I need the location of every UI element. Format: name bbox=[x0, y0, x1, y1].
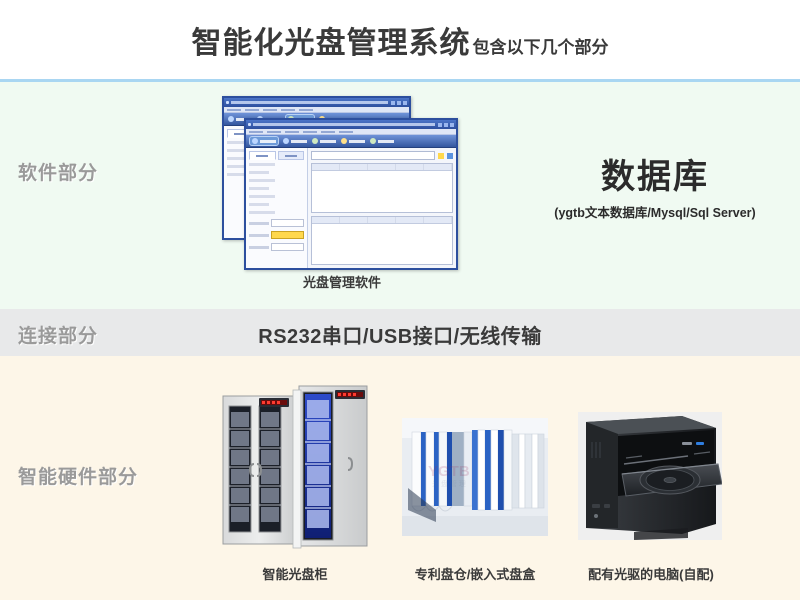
refresh-icon[interactable] bbox=[447, 153, 453, 159]
toolbar-button[interactable] bbox=[341, 138, 365, 144]
connection-methods-text: RS232串口/USB接口/无线传输 bbox=[0, 320, 800, 349]
header-title-group: 智能化光盘管理系统 包含以下几个部分 bbox=[192, 18, 609, 62]
page-subtitle: 包含以下几个部分 bbox=[473, 33, 609, 58]
menu-item[interactable] bbox=[321, 131, 335, 133]
toolbar-front bbox=[246, 135, 456, 148]
menu-item[interactable] bbox=[339, 131, 353, 133]
infographic-page: 智能化光盘管理系统 包含以下几个部分 软件部分 bbox=[0, 0, 800, 600]
grid-column bbox=[312, 217, 340, 223]
menu-item[interactable] bbox=[303, 131, 317, 133]
menu-item[interactable] bbox=[285, 131, 299, 133]
disc-in-icon bbox=[252, 138, 258, 144]
form-input-row-highlight bbox=[249, 231, 304, 239]
grid-column bbox=[368, 164, 396, 170]
section-label-software: 软件部分 bbox=[18, 158, 98, 185]
database-subtitle: (ygtb文本数据库/Mysql/Sql Server) bbox=[520, 202, 790, 221]
maximize-icon[interactable] bbox=[444, 123, 448, 127]
grid-column bbox=[340, 217, 368, 223]
svg-text:光 盘 管 理: 光 盘 管 理 bbox=[432, 479, 466, 488]
software-screenshot-group bbox=[222, 96, 454, 266]
minimize-icon[interactable] bbox=[438, 123, 442, 127]
tab-disc-borrow[interactable] bbox=[278, 151, 305, 160]
disc-cabinet-image bbox=[215, 378, 375, 556]
caption-disc-cabinet: 智能光盘柜 bbox=[205, 564, 385, 583]
svg-text:YGTB: YGTB bbox=[428, 463, 470, 480]
form-field bbox=[249, 195, 275, 198]
window-controls bbox=[438, 123, 454, 127]
sync-icon bbox=[370, 138, 376, 144]
toolbar-label bbox=[291, 140, 307, 143]
page-title: 智能化光盘管理系统 bbox=[192, 18, 471, 62]
disc-out-icon bbox=[283, 138, 289, 144]
caption-software: 光盘管理软件 bbox=[232, 272, 452, 291]
disc-in-icon bbox=[228, 116, 234, 122]
form-input-row bbox=[249, 219, 304, 227]
form-field bbox=[249, 179, 275, 182]
section-label-hardware: 智能硬件部分 bbox=[18, 462, 138, 489]
grid-column bbox=[396, 164, 424, 170]
app-window-front bbox=[244, 118, 458, 270]
field-input[interactable] bbox=[271, 219, 304, 227]
grid-column bbox=[312, 164, 340, 170]
form-field bbox=[249, 187, 269, 190]
page-header: 智能化光盘管理系统 包含以下几个部分 bbox=[0, 0, 800, 80]
window-title-text bbox=[231, 101, 388, 104]
computer-optical-drive-image bbox=[578, 412, 722, 540]
search-bar bbox=[311, 151, 453, 160]
toolbar-label bbox=[349, 140, 365, 143]
menu-item[interactable] bbox=[267, 131, 281, 133]
menu-item[interactable] bbox=[245, 109, 259, 111]
form-input-row bbox=[249, 243, 304, 251]
tab-disc-info[interactable] bbox=[249, 151, 276, 160]
grid-column bbox=[340, 164, 368, 170]
grid-column bbox=[424, 164, 452, 170]
maximize-icon[interactable] bbox=[397, 101, 401, 105]
close-icon[interactable] bbox=[450, 123, 454, 127]
toolbar-button[interactable] bbox=[312, 138, 336, 144]
tab-label bbox=[285, 155, 297, 157]
tab-label bbox=[256, 155, 268, 157]
grid-column bbox=[368, 217, 396, 223]
field-input[interactable] bbox=[271, 243, 304, 251]
toolbar-label bbox=[378, 140, 394, 143]
field-label bbox=[249, 234, 269, 237]
toolbar-button[interactable] bbox=[283, 138, 307, 144]
grid-body bbox=[312, 171, 452, 212]
window-title-text bbox=[253, 123, 435, 126]
window-controls bbox=[391, 101, 407, 105]
grid-header-row bbox=[312, 217, 452, 224]
window-titlebar-front bbox=[246, 120, 456, 129]
grid-column bbox=[424, 217, 452, 223]
menu-item[interactable] bbox=[249, 131, 263, 133]
settings-icon bbox=[341, 138, 347, 144]
toolbar-label bbox=[320, 140, 336, 143]
search-icon[interactable] bbox=[438, 153, 444, 159]
field-label bbox=[249, 246, 269, 249]
form-field bbox=[249, 163, 275, 166]
field-input-active[interactable] bbox=[271, 231, 304, 239]
form-field bbox=[249, 203, 269, 206]
toolbar-button-active[interactable] bbox=[250, 137, 278, 145]
window-icon bbox=[226, 101, 229, 104]
toolbar-button[interactable] bbox=[370, 138, 394, 144]
disc-cartridge-image: YGTB 光 盘 管 理 bbox=[402, 418, 548, 536]
menu-item[interactable] bbox=[281, 109, 295, 111]
toolbar-label bbox=[260, 140, 276, 143]
grid-body bbox=[312, 224, 452, 265]
caption-computer: 配有光驱的电脑(自配) bbox=[565, 564, 737, 583]
menu-item[interactable] bbox=[227, 109, 241, 111]
window-icon bbox=[248, 123, 251, 126]
database-title: 数据库 bbox=[520, 158, 790, 197]
window-body-front bbox=[246, 148, 456, 268]
close-icon[interactable] bbox=[403, 101, 407, 105]
menu-item[interactable] bbox=[299, 109, 313, 111]
form-panel-front bbox=[246, 148, 308, 268]
panel-tabs bbox=[249, 151, 304, 160]
window-titlebar-back bbox=[224, 98, 409, 107]
form-field bbox=[249, 211, 275, 214]
data-grid-primary[interactable] bbox=[311, 163, 453, 213]
menu-item[interactable] bbox=[263, 109, 277, 111]
minimize-icon[interactable] bbox=[391, 101, 395, 105]
grid-header-row bbox=[312, 164, 452, 171]
grid-panel-front bbox=[308, 148, 456, 268]
database-block: 数据库 (ygtb文本数据库/Mysql/Sql Server) bbox=[520, 158, 790, 221]
caption-disc-cartridge: 专利盘仓/嵌入式盘盒 bbox=[395, 564, 555, 583]
disc-query-icon bbox=[312, 138, 318, 144]
grid-column bbox=[396, 217, 424, 223]
form-field bbox=[249, 171, 269, 174]
data-grid-secondary[interactable] bbox=[311, 216, 453, 266]
field-label bbox=[249, 222, 269, 225]
search-input[interactable] bbox=[311, 151, 435, 160]
